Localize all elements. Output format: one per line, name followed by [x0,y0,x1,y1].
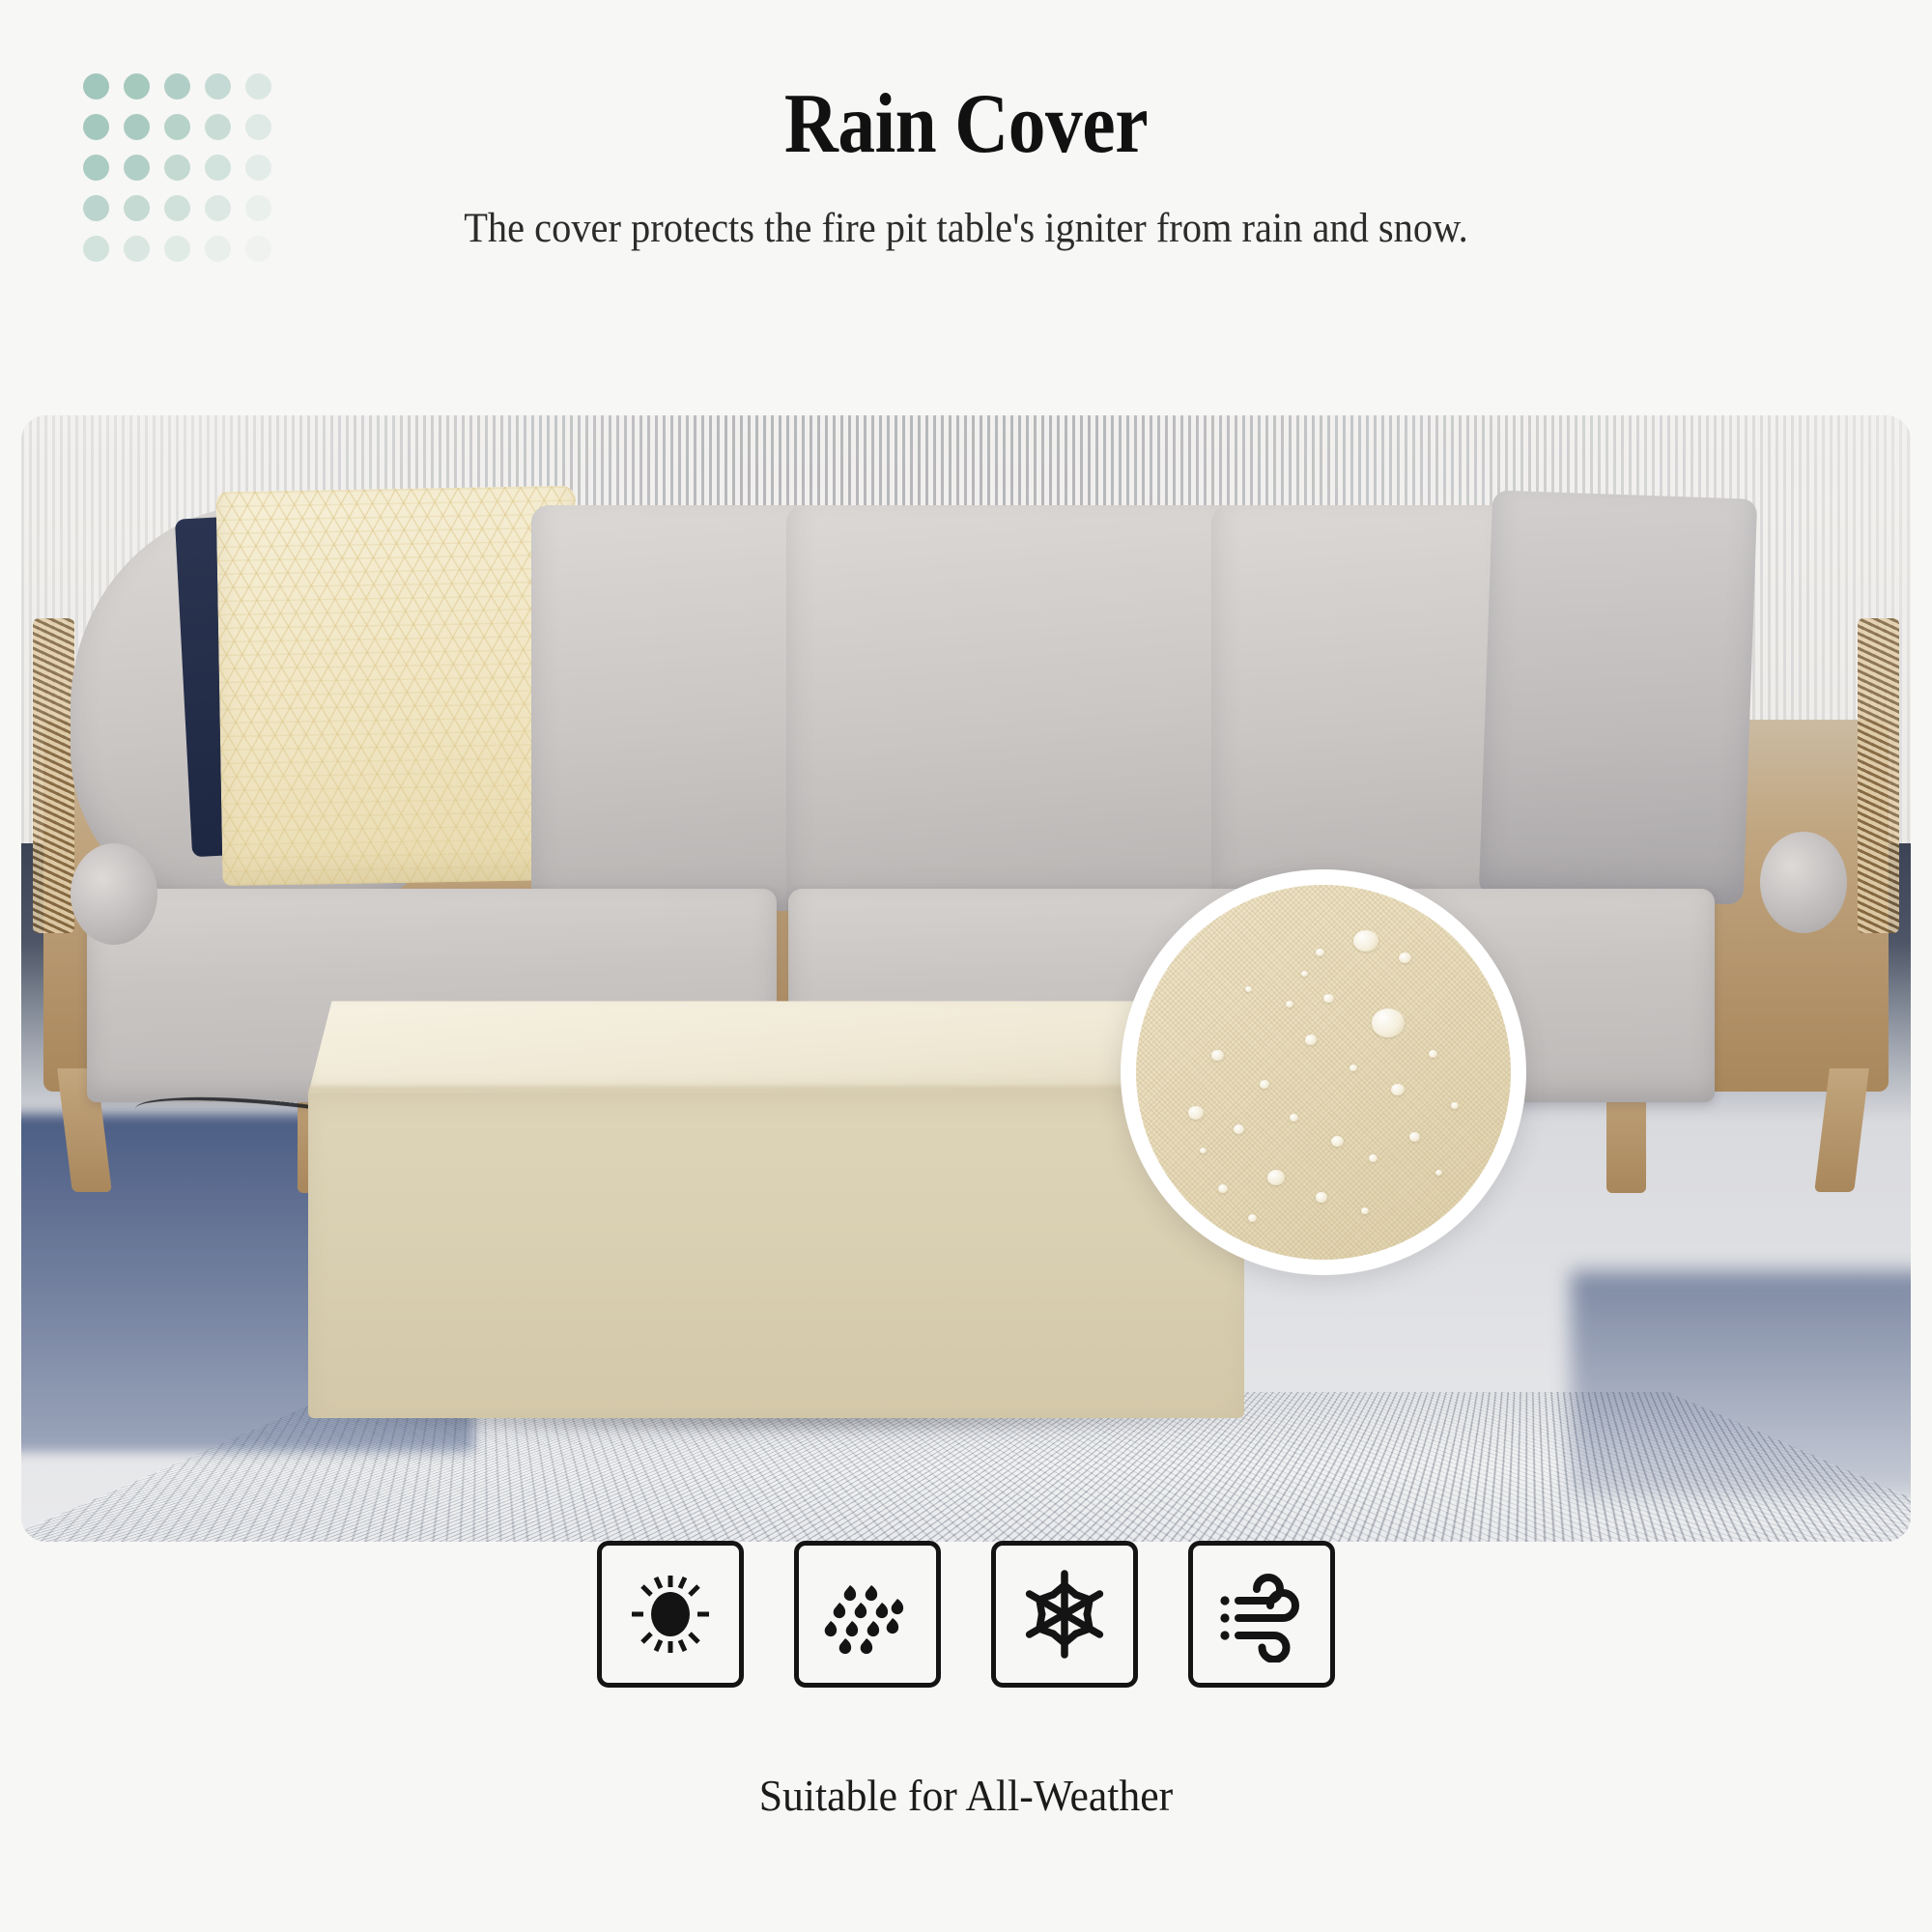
water-bead [1301,971,1308,977]
water-bead [1316,1192,1327,1203]
water-bead [1234,1124,1244,1134]
weather-tile-rain[interactable] [794,1541,941,1688]
water-bead [1391,1084,1405,1095]
wicker-armrest-left [33,618,74,933]
weather-tile-sun[interactable] [597,1541,744,1688]
bolster-cushion [71,843,157,945]
water-bead [1350,1065,1357,1071]
page-subtitle: The cover protects the fire pit table's … [430,202,1501,257]
sun-icon [624,1568,717,1661]
water-bead [1361,1207,1369,1214]
water-bead [1218,1184,1228,1193]
water-bead [1305,1035,1317,1045]
water-bead [1200,1148,1207,1153]
water-bead [1409,1132,1420,1142]
grey-pillow [1479,490,1757,904]
weather-tile-snow[interactable] [991,1541,1138,1688]
product-photo [21,415,1911,1542]
water-bead [1211,1050,1224,1061]
water-bead [1316,949,1324,956]
water-bead [1331,1136,1344,1147]
water-bead [1245,986,1252,992]
water-bead [1248,1214,1257,1222]
rain-icon [821,1568,914,1661]
snowflake-icon [1016,1566,1113,1662]
cover-front-panel [308,1093,1243,1417]
water-bead [1399,952,1411,963]
wind-icon [1213,1566,1310,1662]
rug-blue-band-right [1571,1271,1911,1496]
cream-textured-pillow [216,486,582,887]
water-bead [1290,1114,1298,1122]
water-bead [1451,1102,1459,1109]
back-cushion [1211,505,1514,911]
water-bead [1353,930,1378,952]
water-bead [1435,1170,1442,1176]
bolster-cushion [1760,832,1847,933]
water-bead [1369,1154,1378,1162]
header: Rain Cover The cover protects the fire p… [0,0,1932,257]
wicker-armrest-right [1858,618,1899,933]
weather-caption: Suitable for All-Weather [48,1770,1884,1821]
water-bead [1260,1080,1269,1089]
water-bead [1267,1170,1285,1185]
water-bead [1323,994,1334,1004]
cover-top-panel [308,1001,1243,1093]
rain-cover-product [308,1001,1243,1417]
weather-tile-wind[interactable] [1188,1541,1335,1688]
weather-icon-row [0,1541,1932,1688]
fabric-texture-disc [1136,885,1511,1260]
water-bead [1286,1001,1293,1008]
photo-scene [21,415,1911,1542]
water-bead [1429,1050,1437,1058]
water-bead [1372,1009,1405,1037]
waterproof-fabric-closeup [1121,869,1526,1275]
back-cushion [786,505,1239,911]
water-bead [1188,1106,1204,1120]
page-title: Rain Cover [116,75,1816,173]
